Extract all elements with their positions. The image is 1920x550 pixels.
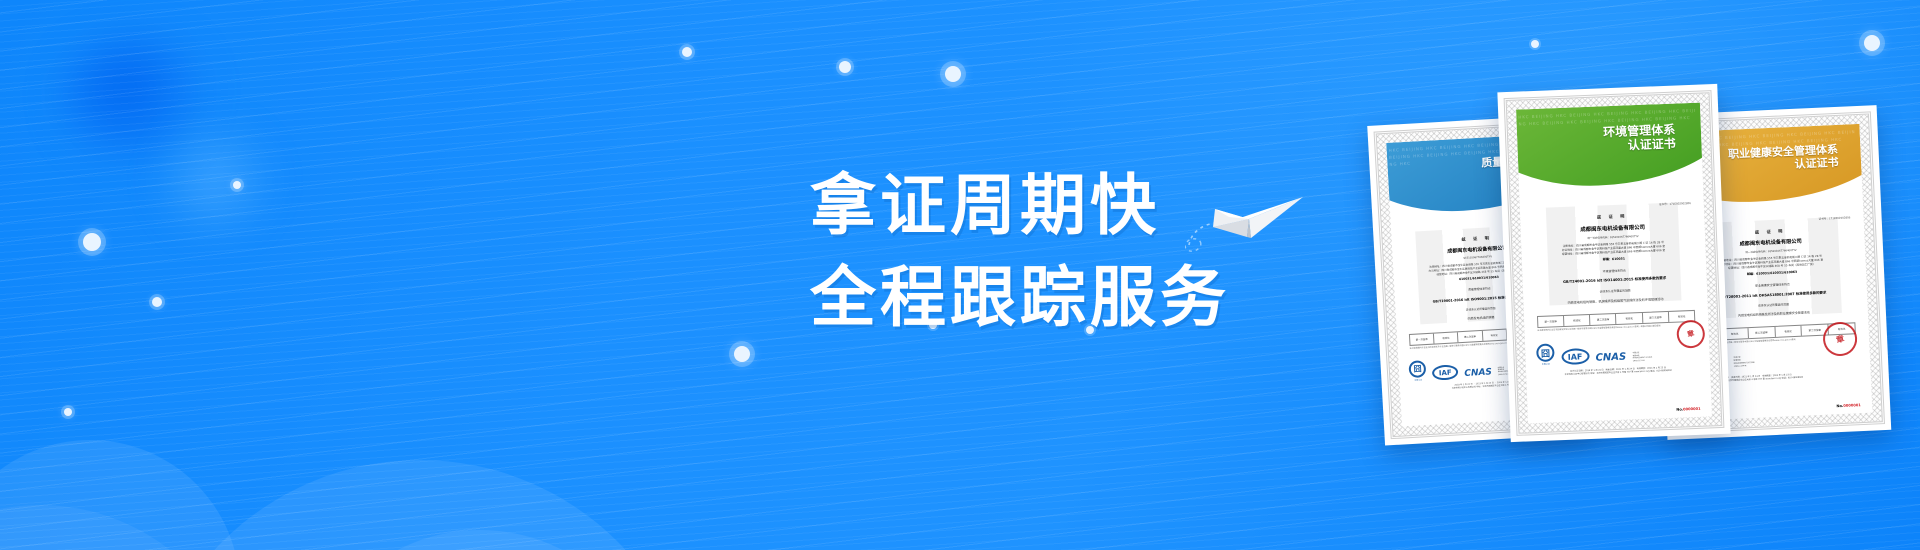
decor-particle (682, 47, 692, 57)
cnas-descriptor: 中国认证管理体系MANAGEMENT SYSTEMCNAS-C174-M (1633, 350, 1699, 363)
decor-particle (734, 346, 750, 362)
audit-cell: 有效化 (1564, 315, 1591, 326)
expiry-date-label: 有效期至： (1762, 375, 1772, 377)
iaf-logo-icon: IAF (1561, 348, 1590, 365)
certificate-page: HKC BEIJING HKC BEIJING HKC BEIJING HKC … (1516, 103, 1712, 424)
certificate-title: 环境管理体系 认证证书 (1603, 122, 1676, 153)
decor-particle (152, 297, 162, 307)
iaf-logo-icon: IAF (1432, 364, 1459, 380)
decor-particle (83, 233, 101, 251)
decor-particle (1864, 35, 1880, 51)
headline-line-1: 拿证周期快 (810, 160, 1510, 252)
certificate-serial: No.0000001 (1836, 403, 1861, 408)
audit-cell: 第三次监审 (1643, 312, 1670, 323)
audit-cell: 第二次监审 (1748, 327, 1775, 338)
promo-banner: 拿证周期快 全程跟踪服务 HKC BEIJING HKC BEIJING H (0, 0, 1920, 550)
certificate-title-line-2: 认证证书 (1603, 137, 1676, 154)
certificate-ghost-pattern (1546, 203, 1682, 306)
cnca-logo-icon: 囧 中国认证 (1409, 360, 1427, 382)
audit-cell: 第二次监审 (1590, 314, 1617, 325)
certificate-logos: 囧 中国认证 IAF CNAS 中国认证管理体系MANAGEMENT SYSTE… (1525, 338, 1710, 367)
decor-particle (839, 61, 851, 73)
certificate-border: HKC BEIJING HKC BEIJING HKC BEIJING HKC … (1504, 90, 1725, 436)
certificate-header: HKC BEIJING HKC BEIJING HKC BEIJING HKC … (1516, 103, 1703, 204)
decor-particle (233, 181, 241, 189)
cnas-logo-icon: CNAS (1464, 368, 1492, 380)
certificate-serial: No.0000001 (1676, 407, 1700, 412)
audit-cell: 有效化 (1775, 325, 1802, 336)
paper-plane-icon (1185, 175, 1315, 255)
background-light-blob (150, 120, 280, 240)
audit-cell: 有效化 (1616, 313, 1643, 324)
decor-particle (945, 66, 961, 82)
decor-particle (1531, 40, 1539, 48)
headline-line-2: 全程跟踪服务 (810, 252, 1510, 344)
cnca-logo-icon: 囧 中国认证 (1536, 344, 1555, 367)
cnas-logo-icon: CNAS (1595, 352, 1626, 364)
certificate-body: 证书号：171E002002806 兹 证 明 成都闽东电机设备有限公司 统一社… (1520, 197, 1709, 336)
headline-block: 拿证周期快 全程跟踪服务 (810, 160, 1510, 344)
audit-cell: 第一次监审 (1538, 316, 1565, 327)
certificate-environment[interactable]: HKC BEIJING HKC BEIJING HKC BEIJING HKC … (1497, 84, 1730, 442)
reissue-date-label: 换发日期： (1731, 376, 1741, 378)
certificate-dates: 初次认证日期：2018 年 1 月 24 日 换发日期：2021 年 1 月 2… (1526, 366, 1710, 379)
certificate-title: 职业健康安全管理体系 认证证书 (1728, 144, 1839, 175)
decor-particle (64, 408, 72, 416)
